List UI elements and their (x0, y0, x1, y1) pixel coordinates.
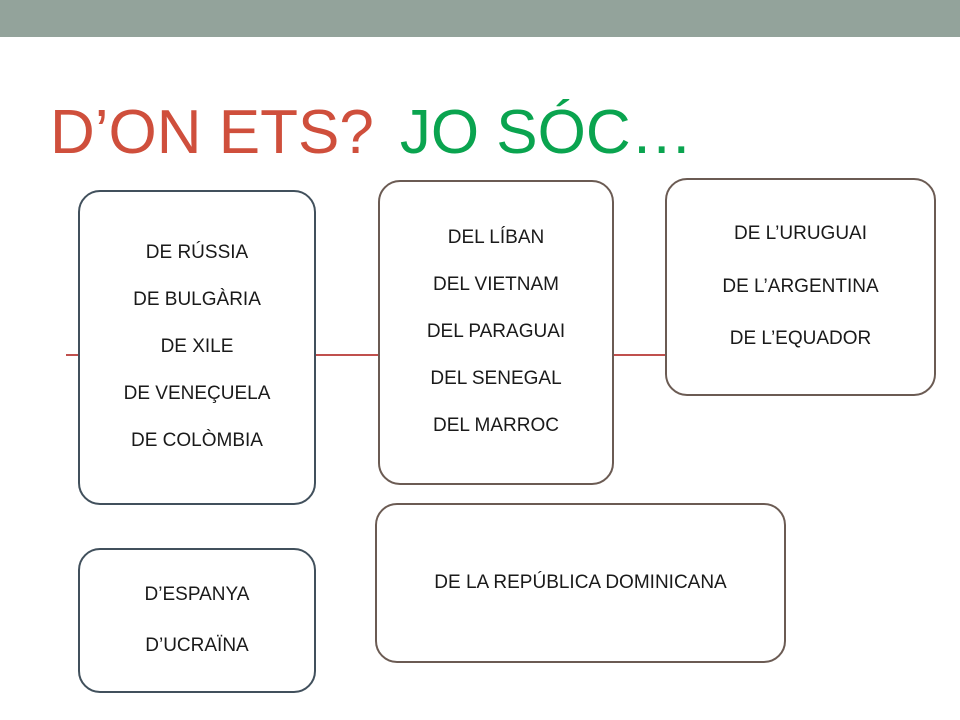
connector-box2-box3 (612, 354, 667, 356)
origin-item: DE VENEÇUELA (80, 384, 314, 405)
origin-item: DE COLÒMBIA (80, 431, 314, 452)
origin-item: DE XILE (80, 337, 314, 358)
page-title: D’ON ETS?JO SÓC… (50, 94, 930, 172)
origin-item: D’ESPANYA (80, 585, 314, 606)
origin-item: DE L’ARGENTINA (667, 277, 934, 298)
origin-box-masculine-del[interactable]: DEL LÍBAN DEL VIETNAM DEL PARAGUAI DEL S… (378, 180, 614, 485)
origin-box-feminine-de-la[interactable]: DE LA REPÚBLICA DOMINICANA (375, 503, 786, 663)
origin-item: DE L’EQUADOR (667, 329, 934, 350)
origin-box-apostrophe-l[interactable]: DE L’URUGUAI DE L’ARGENTINA DE L’EQUADOR (665, 178, 936, 396)
origin-item: DEL VIETNAM (380, 275, 612, 296)
origin-item: DEL MARROC (380, 416, 612, 437)
origin-box-apostrophe-d[interactable]: D’ESPANYA D’UCRAÏNA (78, 548, 316, 693)
origin-item: DE BULGÀRIA (80, 290, 314, 311)
title-question: D’ON ETS? (50, 98, 374, 167)
origin-item: DEL SENEGAL (380, 369, 612, 390)
top-decorative-band (0, 0, 960, 37)
title-answer: JO SÓC… (400, 98, 693, 167)
connector-box1-box2 (314, 354, 380, 356)
origin-item: DE RÚSSIA (80, 243, 314, 264)
origin-item: DE L’URUGUAI (667, 224, 934, 245)
origin-item: D’UCRAÏNA (80, 636, 314, 657)
origin-box-slavic-latam[interactable]: DE RÚSSIA DE BULGÀRIA DE XILE DE VENEÇUE… (78, 190, 316, 505)
origin-item: DE LA REPÚBLICA DOMINICANA (377, 573, 784, 594)
origin-item: DEL LÍBAN (380, 228, 612, 249)
origin-item: DEL PARAGUAI (380, 322, 612, 343)
slide-canvas: D’ON ETS?JO SÓC… DE RÚSSIA DE BULGÀRIA D… (0, 0, 960, 720)
